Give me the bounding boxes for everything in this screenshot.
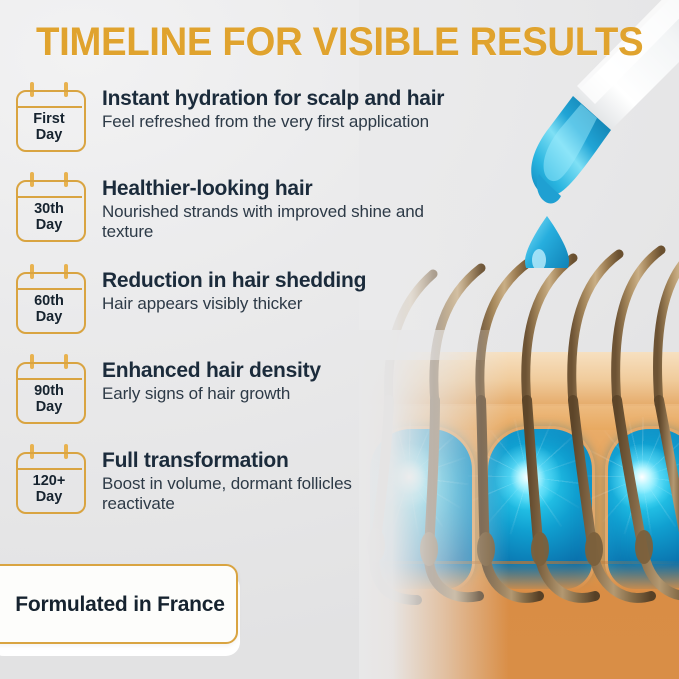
serum-droplet — [525, 216, 569, 268]
timeline-text: Instant hydration for scalp and hair Fee… — [102, 82, 444, 132]
calendar-label-line1: First — [33, 111, 64, 127]
timeline-list: First Day Instant hydration for scalp an… — [0, 82, 520, 514]
timeline-item: 30th Day Healthier-looking hair Nourishe… — [0, 172, 520, 242]
timeline-text: Reduction in hair shedding Hair appears … — [102, 264, 366, 314]
calendar-label: 120+ Day — [16, 468, 82, 510]
timeline-item: First Day Instant hydration for scalp an… — [0, 82, 520, 150]
calendar-label-line1: 30th — [34, 201, 64, 217]
formulated-in-france-badge: Formulated in France — [0, 564, 238, 644]
timeline-subtext: Hair appears visibly thicker — [102, 294, 366, 314]
calendar-label-line1: 90th — [34, 383, 64, 399]
timeline-item: 60th Day Reduction in hair shedding Hair… — [0, 264, 520, 332]
timeline-subtext: Boost in volume, dormant follicles react… — [102, 474, 370, 514]
timeline-subtext: Early signs of hair growth — [102, 384, 321, 404]
calendar-label: 60th Day — [16, 288, 82, 330]
badge-label: Formulated in France — [0, 592, 225, 617]
calendar-label-line1: 60th — [34, 293, 64, 309]
timeline-text: Healthier-looking hair Nourished strands… — [102, 172, 474, 242]
timeline-item: 90th Day Enhanced hair density Early sig… — [0, 354, 520, 422]
calendar-icon: 120+ Day — [16, 444, 88, 512]
timeline-text: Full transformation Boost in volume, dor… — [102, 444, 370, 514]
calendar-label-line2: Day — [36, 309, 63, 325]
calendar-icon: 90th Day — [16, 354, 88, 422]
timeline-heading: Healthier-looking hair — [102, 176, 474, 201]
calendar-icon: First Day — [16, 82, 88, 150]
calendar-icon: 30th Day — [16, 172, 88, 240]
timeline-item: 120+ Day Full transformation Boost in vo… — [0, 444, 520, 514]
timeline-subtext: Nourished strands with improved shine an… — [102, 202, 474, 242]
calendar-label-line2: Day — [36, 489, 63, 505]
calendar-icon: 60th Day — [16, 264, 88, 332]
calendar-label-line2: Day — [36, 127, 63, 143]
calendar-label-line1: 120+ — [33, 473, 66, 489]
timeline-heading: Instant hydration for scalp and hair — [102, 86, 444, 111]
timeline-heading: Enhanced hair density — [102, 358, 321, 383]
timeline-text: Enhanced hair density Early signs of hai… — [102, 354, 321, 404]
timeline-subtext: Feel refreshed from the very first appli… — [102, 112, 444, 132]
calendar-label: First Day — [16, 106, 82, 148]
calendar-label-line2: Day — [36, 399, 63, 415]
page-title: TIMELINE FOR VISIBLE RESULTS — [36, 20, 631, 64]
calendar-label: 30th Day — [16, 196, 82, 238]
calendar-label: 90th Day — [16, 378, 82, 420]
infographic-poster: TIMELINE FOR VISIBLE RESULTS First Day I… — [0, 0, 679, 679]
timeline-heading: Full transformation — [102, 448, 370, 473]
timeline-heading: Reduction in hair shedding — [102, 268, 366, 293]
calendar-label-line2: Day — [36, 217, 63, 233]
